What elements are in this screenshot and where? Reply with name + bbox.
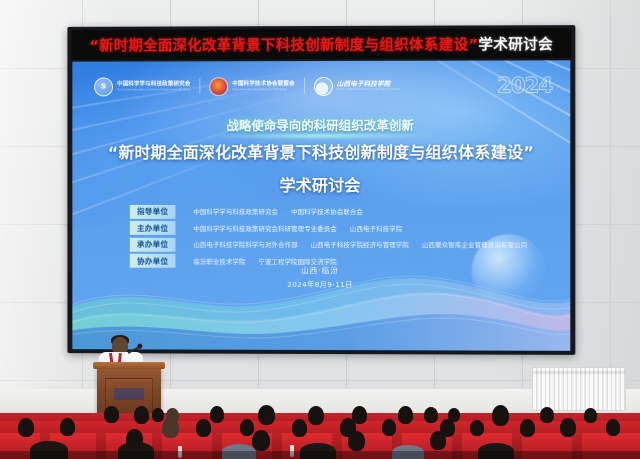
attendee-head <box>308 406 324 425</box>
attendee-head <box>540 407 554 423</box>
logo-name-cn: 山西电子科技学院 <box>337 80 401 88</box>
organizer-value: 中国科学技术协会联合会 <box>291 208 363 216</box>
organizer-values: 中国科学学与科技政策研究会科研管理专业委员会山西电子科技学院 <box>193 223 415 232</box>
slide-wave-graphic <box>72 235 570 351</box>
year-watermark: 2024 <box>497 75 554 96</box>
logo-name-en: Shanxi Institute of Electronic Science a… <box>337 88 401 91</box>
conference-photo: “新时期全面深化改革背景下科技创新制度与组织体系建设”学术研讨会 <box>0 0 640 459</box>
logo-item: 中国科学技术协会联盟会 China Association for Scienc… <box>209 77 294 96</box>
attendee-head <box>292 419 307 437</box>
cast-emblem-icon <box>209 77 228 96</box>
attendee-head <box>196 419 211 437</box>
banner-quote-open: “ <box>89 38 99 54</box>
attendee-head <box>252 430 270 451</box>
logo-divider <box>304 78 305 94</box>
stage-banner: “新时期全面深化改革背景下科技创新制度与组织体系建设”学术研讨会 <box>71 28 571 60</box>
organizer-values: 中国科学学与科技政策研究会中国科学技术协会联合会 <box>193 207 376 216</box>
organizer-value: 中国科学学与科技政策研究会科研管理专业委员会 <box>193 224 337 232</box>
attendee-head <box>18 418 34 437</box>
attendee-head <box>470 420 484 436</box>
banner-headline: “新时期全面深化改革背景下科技创新制度与组织体系建设”学术研讨会 <box>89 33 553 55</box>
attendee-head <box>606 419 620 436</box>
organizer-row: 指导单位 中国科学学与科技政策研究会中国科学技术协会联合会 <box>130 205 542 218</box>
attendee-head <box>520 419 535 437</box>
attendee-head <box>134 406 149 424</box>
attendee-head <box>584 408 597 423</box>
organizer-logo-strip: S 中国科学学与科技政策研究会 The Chinese Association … <box>94 70 554 101</box>
banner-quote-close: ” <box>468 37 478 53</box>
audience-area <box>0 401 640 459</box>
slide-subtitle: 战略使命导向的科研组织改革创新 <box>201 113 440 136</box>
attendee-head <box>382 419 396 436</box>
university-emblem-icon <box>314 76 333 95</box>
attendee-head <box>162 418 179 438</box>
slide-title-line2: 学术研讨会 <box>72 172 570 196</box>
attendee-head <box>424 407 438 423</box>
logo-divider <box>199 78 200 94</box>
logo-item: 山西电子科技学院 Shanxi Institute of Electronic … <box>314 76 401 95</box>
slide-title-line1: “新时期全面深化改革背景下科技创新制度与组织体系建设” <box>72 139 570 163</box>
organizer-label: 主办单位 <box>130 221 176 235</box>
organizer-row: 主办单位 中国科学学与科技政策研究会科研管理专业委员会山西电子科技学院 <box>130 221 542 234</box>
led-display-screen: “新时期全面深化改革背景下科技创新制度与组织体系建设”学术研讨会 <box>67 25 575 355</box>
foreground-shadow <box>0 451 640 459</box>
banner-suffix: 学术研讨会 <box>478 37 553 53</box>
banner-main-text: 新时期全面深化改革背景下科技创新制度与组织体系建设 <box>99 37 468 54</box>
circle-s-emblem-icon: S <box>94 77 113 96</box>
attendee-head <box>560 418 576 437</box>
attendee-head <box>258 405 275 425</box>
lectern-top <box>93 362 165 369</box>
lectern-plaque <box>114 388 144 400</box>
organizer-value: 山西电子科技学院 <box>350 225 402 233</box>
attendee-head <box>240 419 254 436</box>
organizer-label: 指导单位 <box>130 204 176 218</box>
attendee-head <box>60 418 75 436</box>
attendee-head <box>152 408 164 422</box>
attendee-head <box>398 406 413 424</box>
logo-name-en: China Association for Science and Techno… <box>232 88 294 91</box>
attendee-head <box>210 406 224 423</box>
organizer-value: 中国科学学与科技政策研究会 <box>193 208 278 216</box>
attendee-head <box>126 429 143 449</box>
attendee-head <box>430 431 446 450</box>
presentation-slide: S 中国科学学与科技政策研究会 The Chinese Association … <box>72 60 570 351</box>
attendee-head <box>104 406 119 423</box>
logo-name-en: The Chinese Association of Science of Sc… <box>117 88 190 91</box>
attendee-head <box>492 405 509 426</box>
attendee-head <box>348 431 365 451</box>
logo-item: S 中国科学学与科技政策研究会 The Chinese Association … <box>94 77 190 96</box>
